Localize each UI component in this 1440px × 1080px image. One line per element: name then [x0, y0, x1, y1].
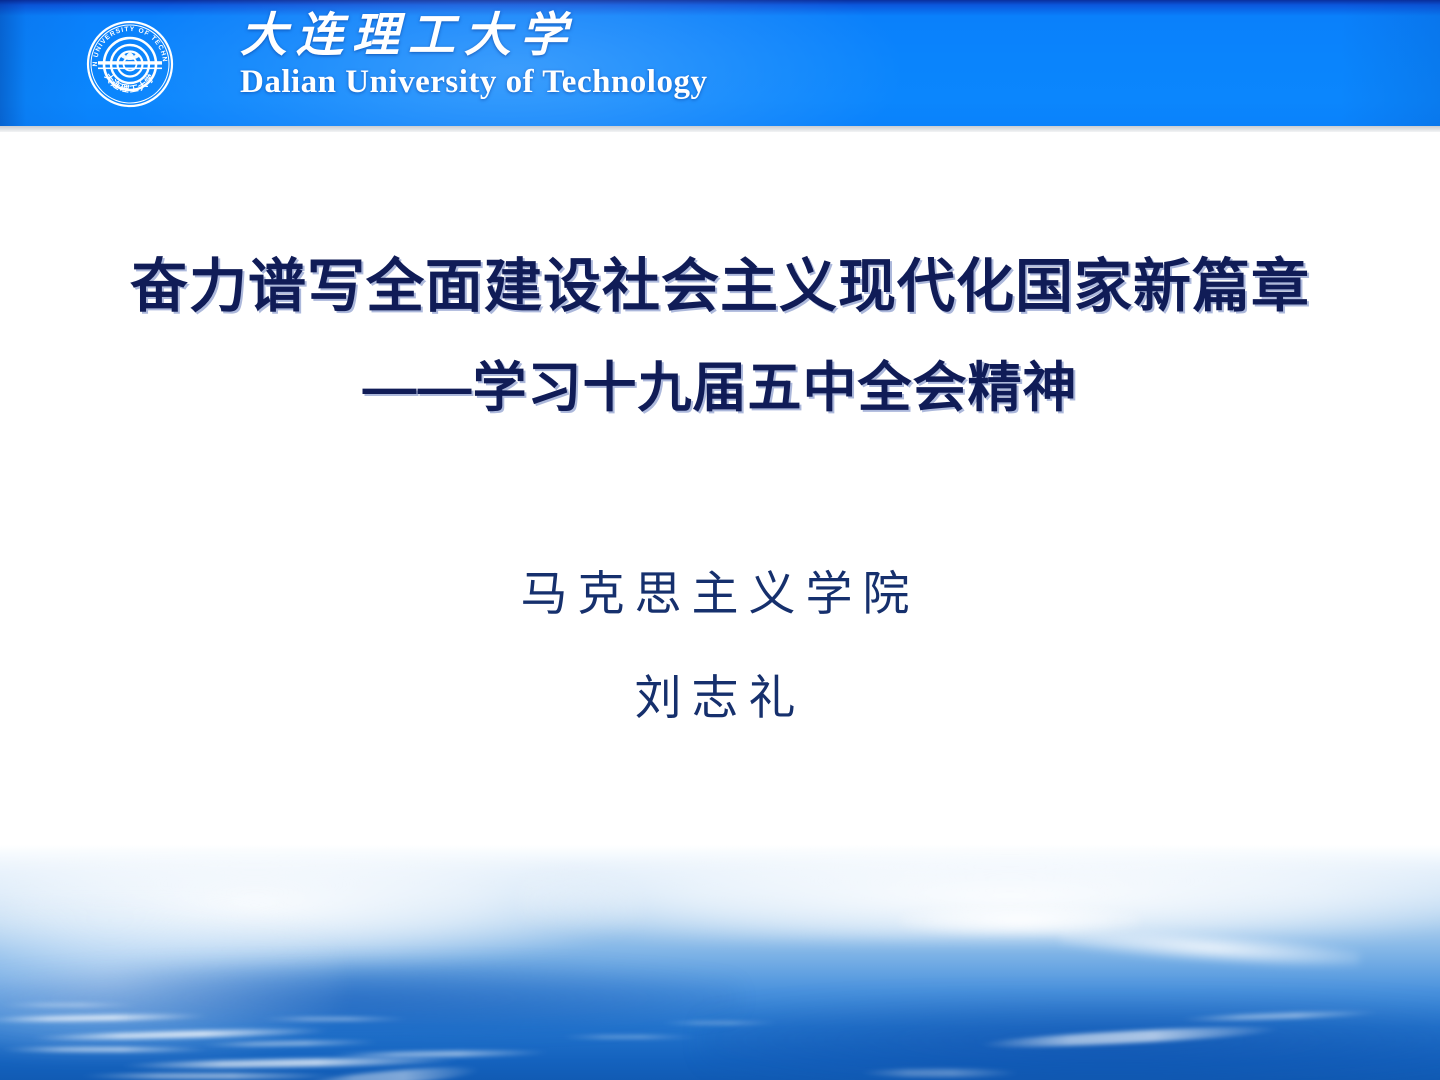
cloud-streak [560, 1035, 700, 1039]
cloud-streak [660, 1021, 780, 1025]
slide-body: 奋力谱写全面建设社会主义现代化国家新篇章 ——学习十九届五中全会精神 马克思主义… [0, 132, 1440, 845]
cloud-streak [0, 1047, 210, 1052]
water-shadow-left [0, 963, 740, 1033]
presenter-name-text: 刘志礼 [0, 674, 1440, 726]
cloud-streak [120, 1056, 460, 1070]
sky-and-sea-photo [0, 845, 1440, 1080]
header-banner: DALIAN UNIVERSITY OF TECHNOLOGY 大连理工大学 大… [0, 0, 1440, 126]
wordmark-english: Dalian University of Technology [240, 66, 707, 99]
title-slide: DALIAN UNIVERSITY OF TECHNOLOGY 大连理工大学 大… [0, 0, 1440, 1080]
affiliation-text: 马克思主义学院 [0, 570, 1440, 622]
slide-title: 奋力谱写全面建设社会主义现代化国家新篇章 [0, 257, 1440, 318]
university-emblem-icon: DALIAN UNIVERSITY OF TECHNOLOGY 大连理工大学 [86, 20, 174, 108]
cloud-streak [260, 1017, 410, 1021]
cloud-streak [860, 1069, 1020, 1077]
presenter-block: 马克思主义学院 刘志礼 [0, 570, 1440, 725]
slide-subtitle: ——学习十九届五中全会精神 [0, 360, 1440, 417]
wordmark-chinese: 大连理工大学 [240, 13, 707, 60]
cloud-streak [0, 1003, 140, 1007]
cloud-streak [330, 1049, 550, 1058]
title-block: 奋力谱写全面建设社会主义现代化国家新篇章 ——学习十九届五中全会精神 [0, 257, 1440, 417]
university-wordmark: 大连理工大学 Dalian University of Technology [240, 13, 707, 99]
cloud-streak [80, 1073, 340, 1079]
